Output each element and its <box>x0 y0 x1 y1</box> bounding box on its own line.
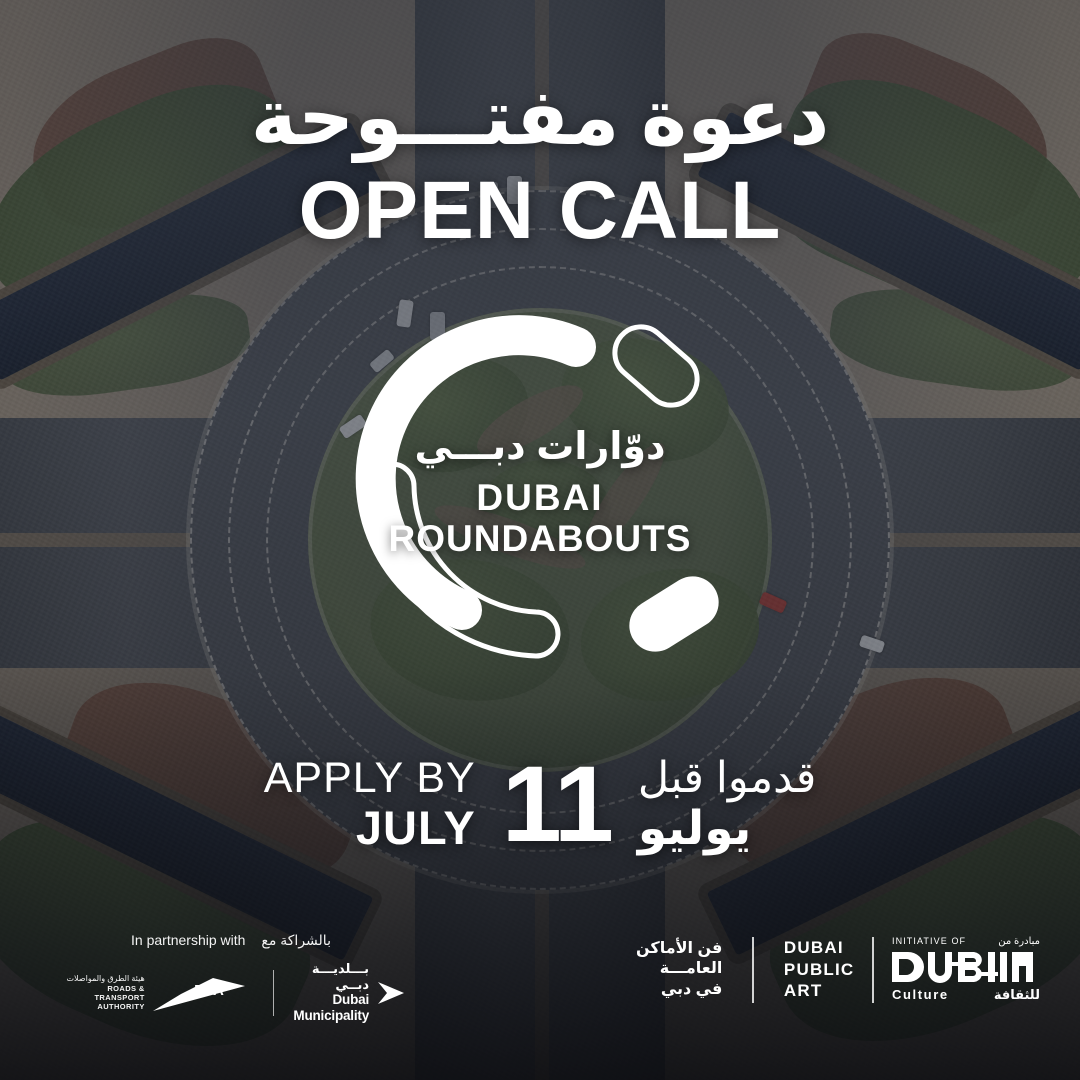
logo-english-line1: DUBAI <box>340 478 740 519</box>
apply-by-label-arabic: قدموا قبل <box>638 757 816 800</box>
partnership-label-arabic: بالشراكة مع <box>261 932 331 949</box>
municipality-arrow-icon <box>376 980 406 1006</box>
municipality-english: Dubai Municipality <box>286 992 369 1024</box>
culture-label-english: Culture <box>892 987 949 1002</box>
deadline-english: APPLY BY JULY <box>264 757 476 851</box>
public-art-arabic-line3: في دبي <box>636 980 722 1000</box>
rta-wing-icon: RTA <box>151 978 247 1012</box>
deadline-day: 11 <box>502 752 612 856</box>
partnership-caption: In partnership with بالشراكة مع <box>56 932 406 949</box>
partners-block: In partnership with بالشراكة مع هيئة الط… <box>56 932 406 1025</box>
public-art-english-line2: PUBLIC <box>784 959 854 981</box>
logo-divider <box>273 970 274 1016</box>
open-call-poster: دعوة مفتـــوحة OPEN CALL <box>0 0 1080 1080</box>
headline-arabic: دعوة مفتـــوحة <box>0 78 1080 156</box>
deadline-block: APPLY BY JULY 11 قدموا قبل يوليو <box>0 752 1080 856</box>
rta-arabic: هيئة الطرق والمواصلات <box>56 974 145 984</box>
initiative-caption: INITIATIVE OF مبادرة من <box>892 936 1040 947</box>
logo-arabic: دوّارات دبـــي <box>340 428 740 468</box>
dubai-roundabouts-logo: دوّارات دبـــي DUBAI ROUNDABOUTS <box>340 300 740 700</box>
apply-by-label: APPLY BY <box>264 757 476 800</box>
rta-english: ROADS & TRANSPORT AUTHORITY <box>56 984 145 1012</box>
culture-label-arabic: للثقافة <box>994 987 1040 1003</box>
culture-caption: Culture للثقافة <box>892 987 1040 1003</box>
public-art-english-line3: ART <box>784 980 854 1002</box>
public-art-english-line1: DUBAI <box>784 937 854 959</box>
dubai-culture-wordmark-icon <box>892 950 1040 984</box>
public-art-english: DUBAI PUBLIC ART <box>784 937 854 1002</box>
public-art-arabic: فن الأماكن العامـــة في دبي <box>636 939 722 1000</box>
organiser-logos: فن الأماكن العامـــة في دبي DUBAI PUBLIC… <box>636 936 1040 1003</box>
footer: In partnership with بالشراكة مع هيئة الط… <box>0 932 1080 1022</box>
municipality-wordmark: بـــلديـــة دبــي Dubai Municipality <box>286 961 369 1025</box>
deadline-month-arabic: يوليو <box>638 804 816 851</box>
logo-english-line2: ROUNDABOUTS <box>340 519 740 560</box>
municipality-arabic: بـــلديـــة دبــي <box>286 961 369 992</box>
organiser-divider <box>872 937 874 1003</box>
dubai-culture-logo: INITIATIVE OF مبادرة من <box>892 936 1040 1003</box>
public-art-arabic-line2: العامـــة <box>636 959 722 979</box>
svg-text:RTA: RTA <box>194 982 224 999</box>
partnership-label-english: In partnership with <box>131 932 245 949</box>
rta-wordmark: هيئة الطرق والمواصلات ROADS & TRANSPORT … <box>56 974 145 1012</box>
deadline-arabic: قدموا قبل يوليو <box>638 757 816 851</box>
dubai-public-art-logo: فن الأماكن العامـــة في دبي DUBAI PUBLIC… <box>636 937 854 1003</box>
deadline-month-english: JULY <box>264 804 476 851</box>
logo-wordmark: دوّارات دبـــي DUBAI ROUNDABOUTS <box>340 428 740 559</box>
partner-logos: هيئة الطرق والمواصلات ROADS & TRANSPORT … <box>56 961 406 1025</box>
rta-logo: هيئة الطرق والمواصلات ROADS & TRANSPORT … <box>56 974 261 1012</box>
initiative-label-english: INITIATIVE OF <box>892 936 966 946</box>
headline-english: OPEN CALL <box>0 170 1080 252</box>
initiative-label-arabic: مبادرة من <box>998 936 1040 947</box>
headline-block: دعوة مفتـــوحة OPEN CALL <box>0 78 1080 252</box>
dubai-municipality-logo: بـــلديـــة دبــي Dubai Municipality <box>286 961 406 1025</box>
public-art-arabic-line1: فن الأماكن <box>636 939 722 959</box>
public-art-divider <box>752 937 754 1003</box>
